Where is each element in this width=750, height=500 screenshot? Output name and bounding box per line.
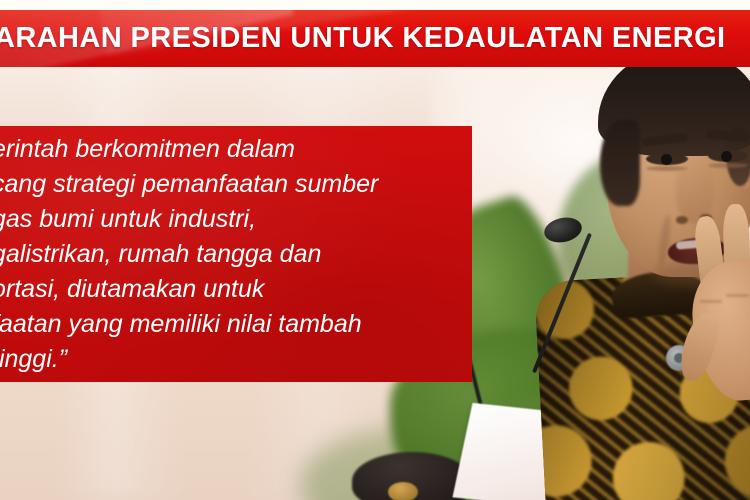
quote-line: tinggi.” — [0, 342, 472, 377]
knuckle — [726, 294, 749, 297]
quote-line: erintah berkomitmen dalam — [0, 132, 472, 167]
infographic-canvas: ARAHAN PRESIDEN UNTUK KEDAULATAN ENERGI … — [0, 0, 750, 500]
quote-text: erintah berkomitmen dalam cang strategi … — [0, 132, 472, 377]
quote-line: faatan yang memiliki nilai tambah — [0, 307, 472, 342]
quote-line: ortasi, diutamakan untuk — [0, 272, 472, 307]
quote-line: cang strategi pemanfaatan sumber — [0, 167, 472, 202]
raised-hand — [684, 200, 750, 410]
pupil-left — [661, 154, 672, 165]
hair-side — [600, 120, 640, 206]
pupil-right — [721, 151, 732, 162]
quote-line: galistrikan, rumah tangga dan — [0, 237, 472, 272]
banner-title: ARAHAN PRESIDEN UNTUK KEDAULATAN ENERGI — [0, 10, 725, 67]
knuckle — [700, 300, 722, 303]
top-margin-strip — [0, 0, 750, 10]
quote-line: gas bumi untuk industri, — [0, 202, 472, 237]
header-banner: ARAHAN PRESIDEN UNTUK KEDAULATAN ENERGI — [0, 10, 750, 67]
quote-box: erintah berkomitmen dalam cang strategi … — [0, 126, 472, 382]
eyelid-right — [708, 163, 748, 168]
